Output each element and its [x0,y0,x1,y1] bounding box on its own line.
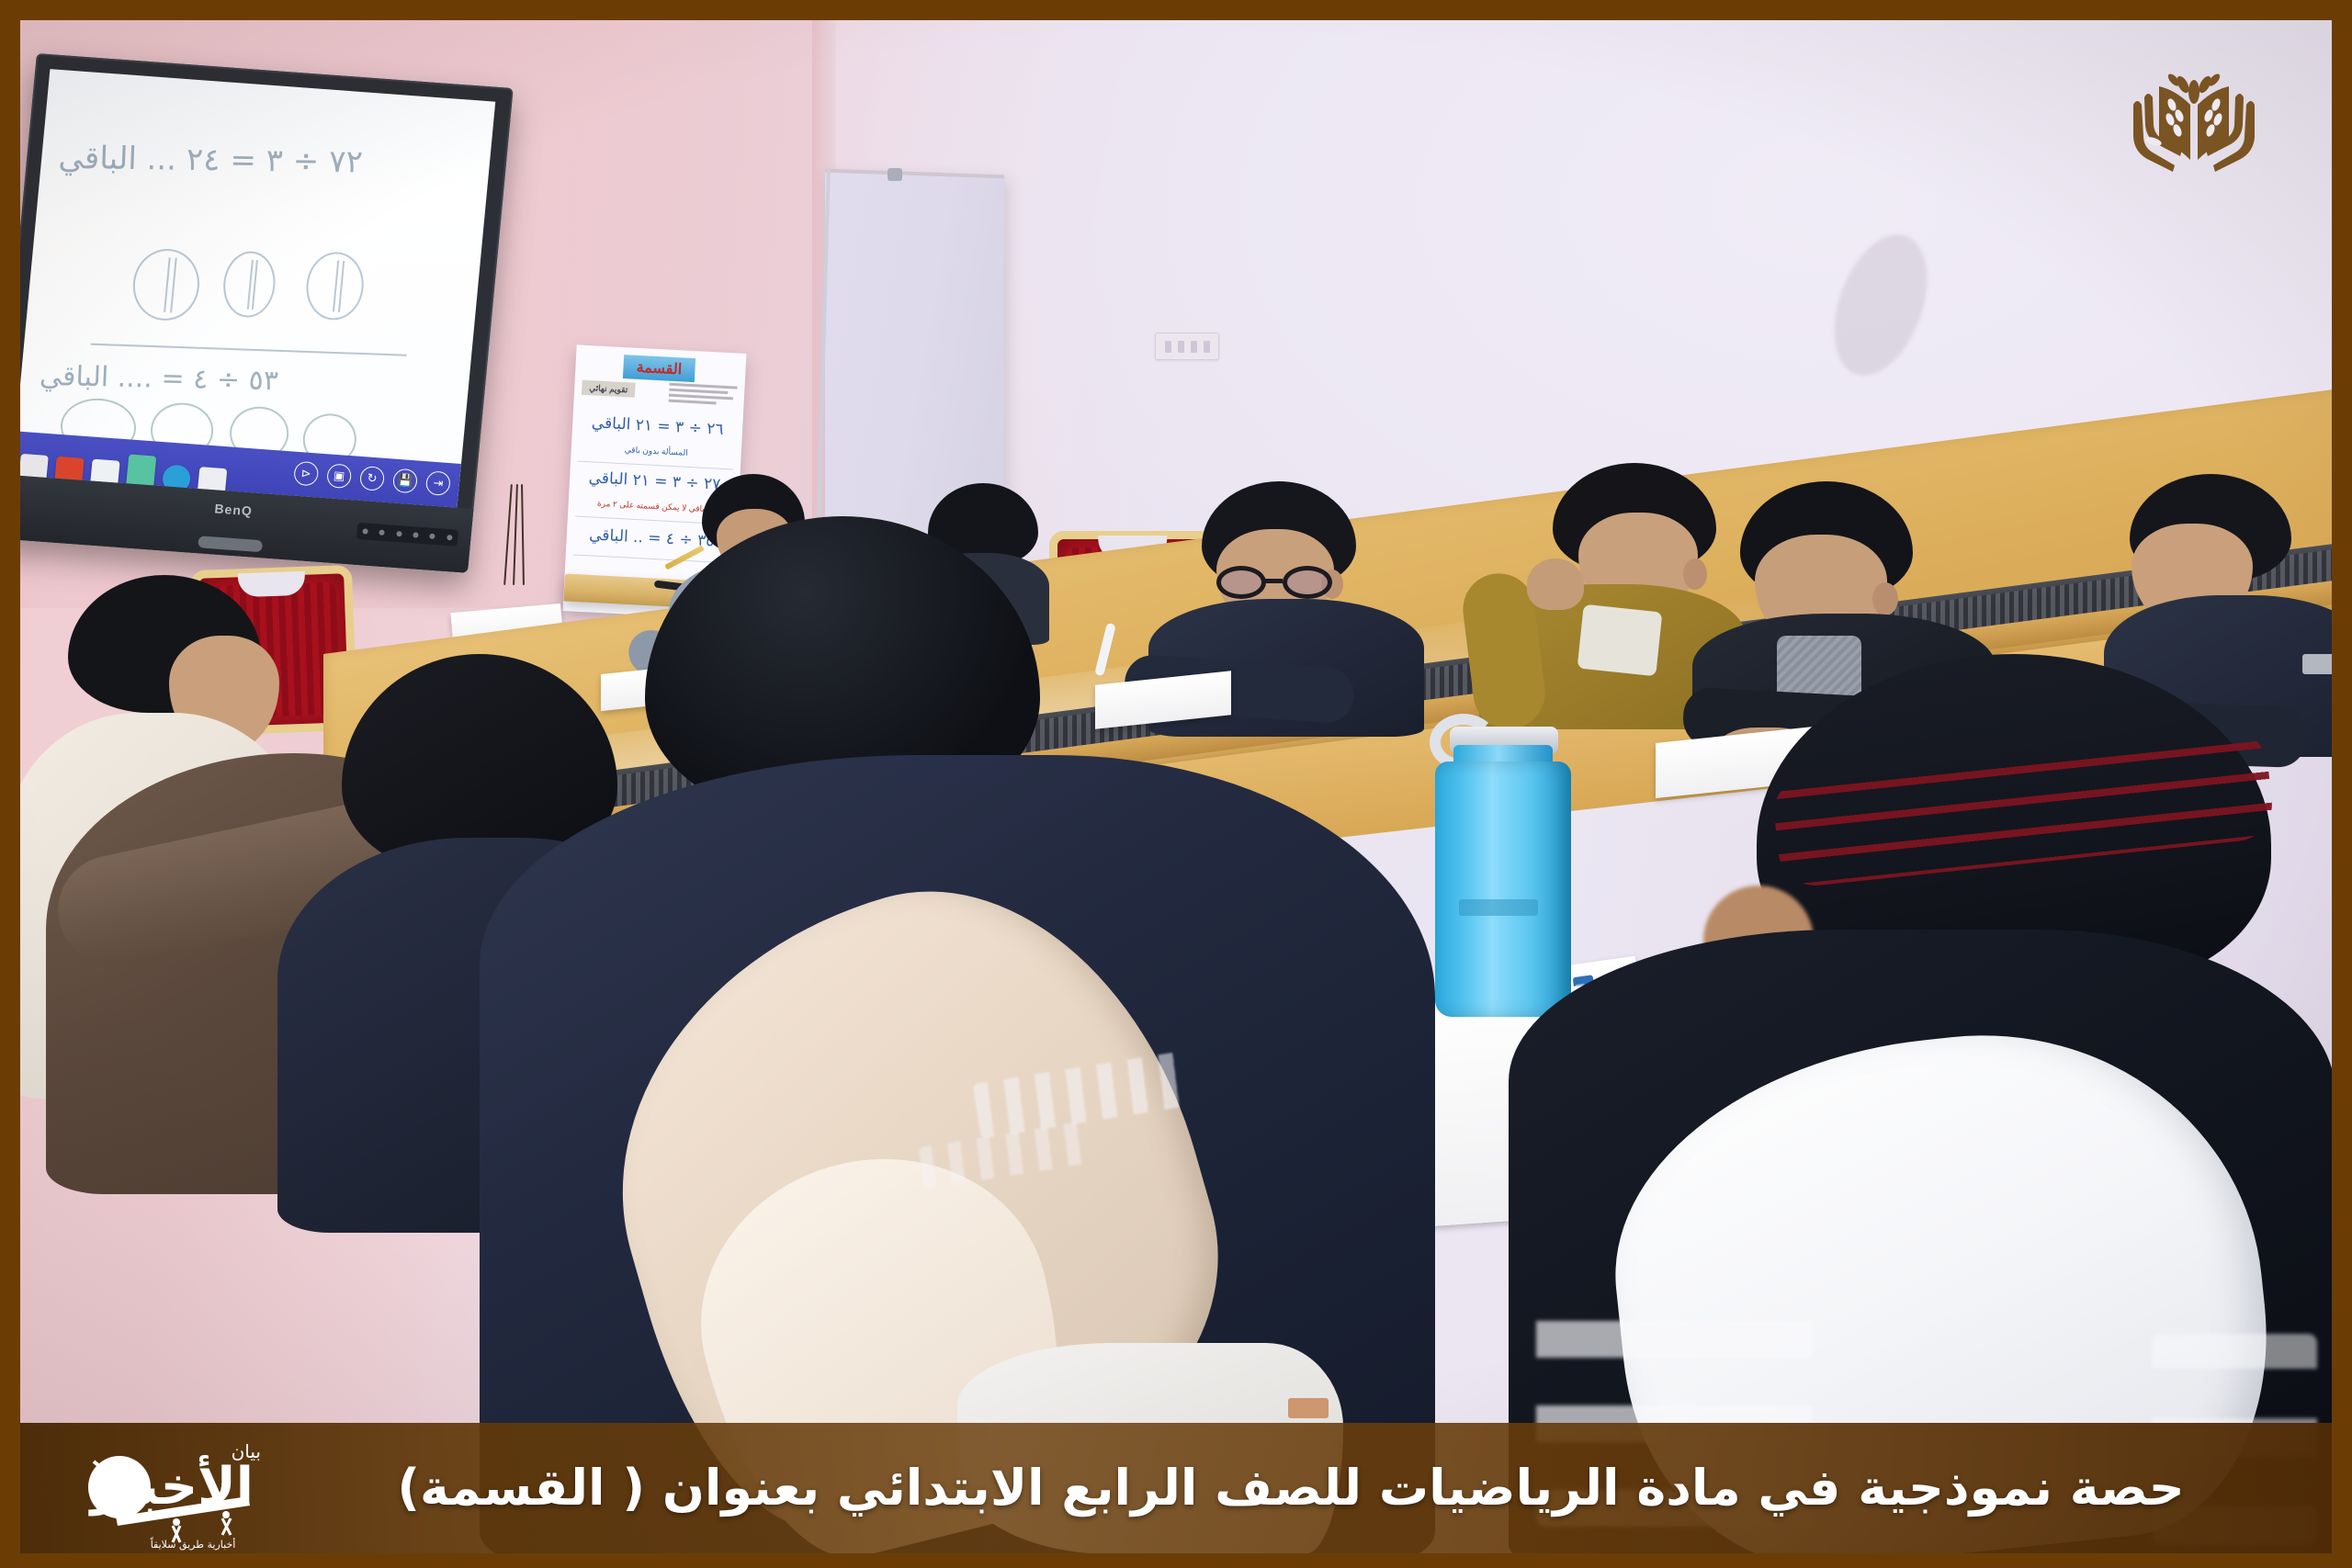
benq-brand-label: BenQ [214,501,254,518]
board-action-icons[interactable]: ⊳ ▣ ↻ 💾 ⇥ [293,461,451,496]
board-circle-2 [220,250,278,320]
student-ear [1872,582,1898,615]
wall-socket [1155,333,1219,360]
record-icon[interactable]: ▣ [326,463,352,489]
frame-top-border [0,0,2352,20]
flipchart-tag: تقويم نهائي [582,380,636,398]
refresh-icon[interactable]: ↻ [359,466,385,491]
student-beanie-white-hood [1509,654,2332,1553]
flipchart-tag-label: تقويم نهائي [582,380,636,398]
exit-icon[interactable]: ⇥ [425,470,451,496]
bayan-alakhbar-logo: بيان الأخبار أخبارية طريق سلايقاً [64,1430,266,1551]
student-hand [1527,558,1584,610]
board-circle-3 [130,246,202,322]
frame-left-border [0,0,20,1568]
whiteboard-panel-knob [888,168,902,181]
board-equation-line-1: ٧٢ ÷ ٣ = ٢٤ ... الباقي [58,140,363,181]
board-divider-rule [91,344,407,356]
caption-text: حصة نموذجية في مادة الرياضيات للصف الراب… [20,1460,2332,1517]
flipchart-title-box: القسمة [623,355,695,382]
frame-right-border [2332,0,2352,1568]
small-logo-patch [1288,1398,1329,1418]
board-equation-line-2: ٥٣ ÷ ٤ = .... الباقي [39,360,278,397]
student-front-center-navy-hoodie [480,516,1453,1553]
caption-bar: بيان الأخبار أخبارية طريق سلايقاً حصة نم… [20,1423,2332,1553]
photograph: ٧٢ ÷ ٣ = ٢٤ ... الباقي ٥٣ ÷ ٤ = .... الب… [20,20,2332,1553]
display-power-button[interactable] [198,536,263,552]
board-circle-1 [303,250,367,321]
open-book-tree-logo [2120,64,2267,175]
display-indicator-lights [356,523,458,547]
share-icon[interactable]: ⊳ [293,461,319,487]
frame-bottom-border [0,1553,2352,1568]
benq-interactive-display[interactable]: ٧٢ ÷ ٣ = ٢٤ ... الباقي ٥٣ ÷ ٤ = .... الب… [20,53,514,573]
news-logo-word-main: الأخبار [88,1454,254,1517]
display-screen[interactable]: ٧٢ ÷ ٣ = ٢٤ ... الباقي ٥٣ ÷ ٤ = .... الب… [20,69,495,508]
flipchart-meta-lines [668,383,737,414]
news-logo-tagline: أخبارية طريق سلايقاً [150,1537,235,1551]
screenshot-root: ٧٢ ÷ ٣ = ٢٤ ... الباقي ٥٣ ÷ ٤ = .... الب… [0,0,2352,1568]
flipchart-title: القسمة [636,358,682,379]
save-icon[interactable]: 💾 [392,468,418,494]
